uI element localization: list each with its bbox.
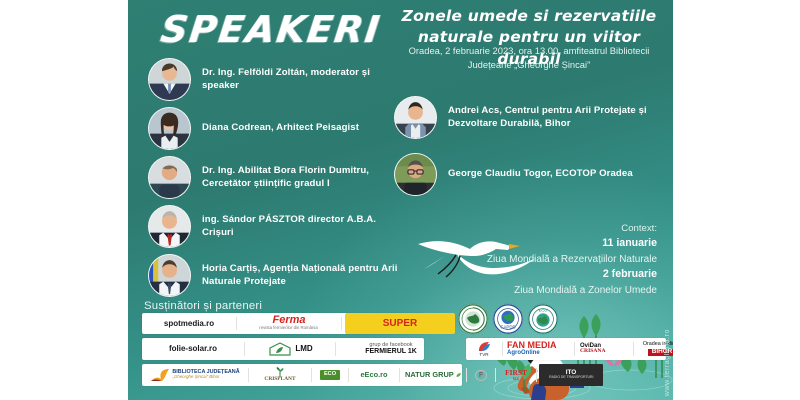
supporters-title: Susținători și parteneri: [144, 300, 262, 312]
avatar: [148, 156, 191, 199]
seal-globe-green-icon: [458, 304, 488, 334]
speaker-row: ing. Sándor PÁSZTOR director A.B.A. Criș…: [148, 205, 398, 248]
supporter-seals: CAPDD ECO: [458, 304, 558, 334]
speaker-row: Andrei Acs, Centrul pentru Arii Protejat…: [394, 96, 664, 139]
avatar: [148, 107, 191, 150]
tvr-icon: [477, 341, 492, 353]
logo-item[interactable]: SUPER: [345, 313, 455, 334]
logo-item[interactable]: Ferma revista fermierilor din România: [237, 313, 341, 334]
divider: [341, 317, 342, 330]
speaker-name: Dr. Ing. Felföldi Zoltán, moderator și s…: [202, 67, 398, 92]
divider: [536, 368, 537, 382]
speaker-row: Dr. Ing. Felföldi Zoltán, moderator și s…: [148, 58, 398, 101]
supporter-logo-row-2: folie-solar.ro LMD grup de facebook FERM…: [142, 338, 424, 360]
speaker-list-left: Dr. Ing. Felföldi Zoltán, moderator și s…: [148, 58, 398, 303]
avatar: [394, 96, 437, 139]
logo-item[interactable]: grup de facebook FERMIERUL 1K: [336, 338, 446, 360]
context-date: 11 ianuarie: [392, 236, 657, 252]
supporter-logo-row-media: TVR FAN MEDIA AgroOnline OviDan CRISANA …: [466, 338, 666, 360]
speaker-row: Horia Carțiș, Agenția Națională pentru A…: [148, 254, 398, 297]
logo-item[interactable]: folie-solar.ro: [142, 338, 244, 360]
supporter-logo-row-1: spotmedia.ro Ferma revista fermierilor d…: [142, 313, 424, 334]
avatar: [394, 153, 437, 196]
supporter-logo-row-3: BIBLIOTECA JUDEȚEANĂ „Gheorghe Șincai” B…: [142, 364, 462, 386]
context-day: Ziua Mondială a Rezervațiilor Naturale: [392, 252, 657, 267]
logo-item[interactable]: ECO: [312, 364, 348, 386]
seal-globe-teal-icon: ECO: [528, 304, 558, 334]
speaker-list-middle: Andrei Acs, Centrul pentru Arii Protejat…: [394, 96, 664, 210]
event-subtitle: Oradea, 2 februarie 2023, ora 13.00, amf…: [390, 44, 668, 71]
logo-item[interactable]: eEco.ro: [349, 364, 399, 386]
logo-item[interactable]: spotmedia.ro: [142, 313, 236, 334]
logo-item[interactable]: CRISPLANT: [249, 364, 311, 386]
speaker-row: Diana Codrean, Arhitect Peisagist: [148, 107, 398, 150]
speaker-name: George Claudiu Togor, ECOTOP Oradea: [448, 168, 633, 181]
svg-text:CAPDD: CAPDD: [500, 325, 515, 330]
context-date: 2 februarie: [392, 267, 657, 283]
leaf-icon: [456, 370, 461, 380]
website-url[interactable]: www.terragloria.ro: [664, 329, 671, 396]
logo-item[interactable]: FIRST taxi: [496, 364, 536, 386]
logo-item[interactable]: LMD: [245, 338, 335, 360]
event-poster: SPEAKERI Zonele umede si rezervatiile na…: [128, 0, 673, 400]
context-label: Context:: [392, 222, 657, 236]
logo-item[interactable]: TVR: [466, 338, 502, 360]
avatar: [148, 205, 191, 248]
speaker-name: ing. Sándor PÁSZTOR director A.B.A. Criș…: [202, 214, 398, 239]
screenshot-canvas: SPEAKERI Zonele umede si rezervatiile na…: [0, 0, 800, 400]
logo-item[interactable]: ITO RADIO DE TRANSPORTURI: [539, 364, 603, 386]
page-title: SPEAKERI: [143, 8, 398, 51]
avatar: [148, 58, 191, 101]
speaker-name: Diana Codrean, Arhitect Peisagist: [202, 122, 359, 135]
logo-item[interactable]: F: [467, 364, 495, 386]
logo-item[interactable]: BIBLIOTECA JUDEȚEANĂ „Gheorghe Șincai” B…: [142, 364, 248, 386]
speaker-row: Dr. Ing. Abilitat Bora Florin Dumitru, C…: [148, 156, 398, 199]
speaker-name: Andrei Acs, Centrul pentru Arii Protejat…: [448, 105, 664, 130]
avatar: [148, 254, 191, 297]
logo-item[interactable]: FAN MEDIA AgroOnline: [503, 338, 574, 360]
context-block: Context: 11 ianuarie Ziua Mondială a Rez…: [392, 222, 657, 298]
svg-text:ECO: ECO: [539, 307, 548, 312]
speaker-row: George Claudiu Togor, ECOTOP Oradea: [394, 153, 664, 196]
seal-globe-blue-icon: CAPDD: [493, 304, 523, 334]
book-icon: [150, 368, 170, 383]
house-leaf-icon: [267, 341, 293, 357]
speaker-name: Horia Carțiș, Agenția Națională pentru A…: [202, 263, 398, 288]
logo-item[interactable]: OviDan CRISANA: [575, 338, 633, 360]
speaker-name: Dr. Ing. Abilitat Bora Florin Dumitru, C…: [202, 165, 398, 190]
logo-item[interactable]: NATUR GRUP: [400, 364, 466, 386]
